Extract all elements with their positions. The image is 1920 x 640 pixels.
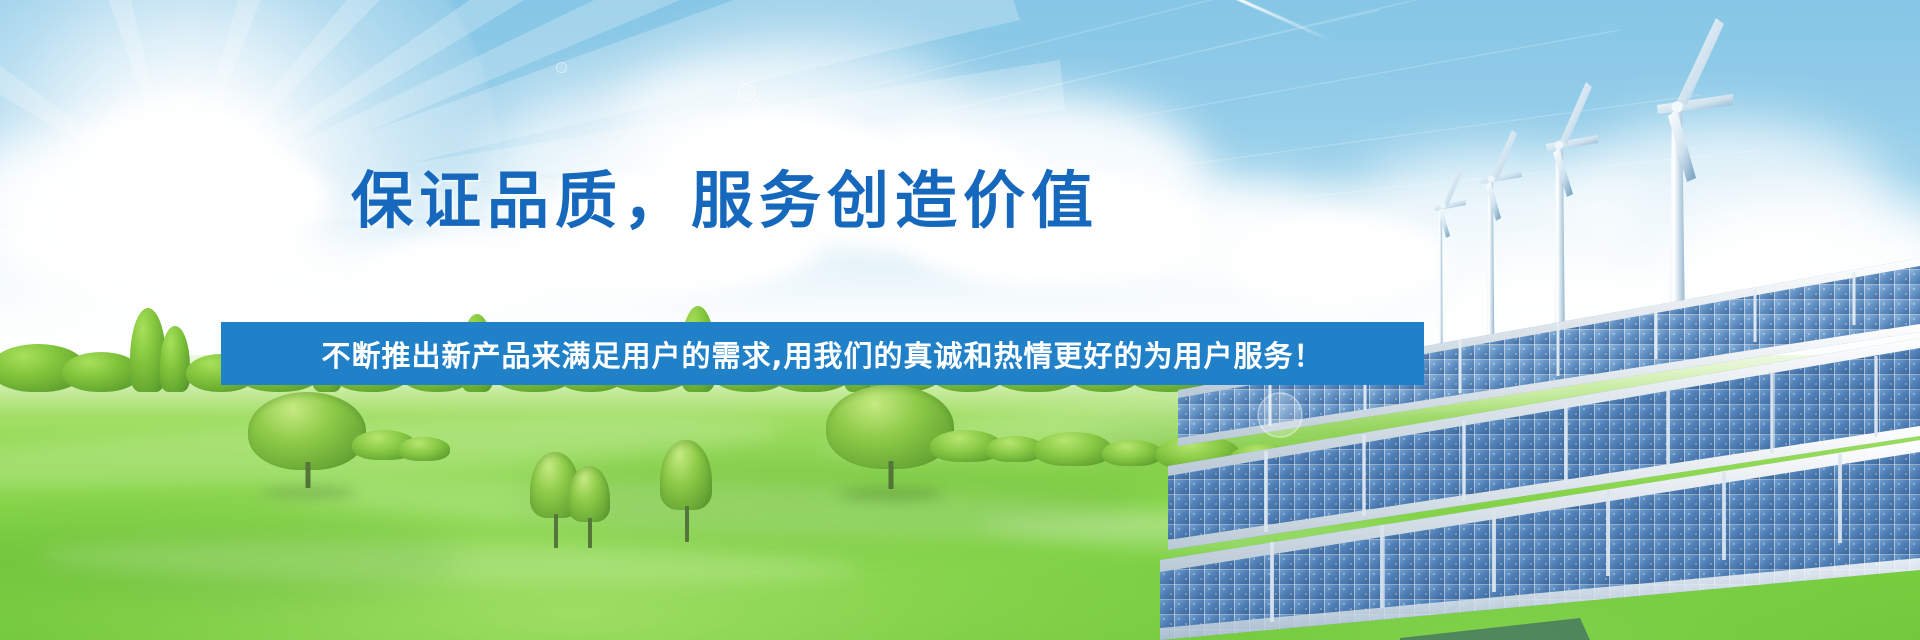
sapling-tree	[568, 466, 612, 556]
sapling-tree	[660, 440, 714, 548]
subtitle-text: 不断推出新产品来满足用户的需求,用我们的真诚和热情更好的为用户服务！	[321, 333, 1323, 375]
page-title: 保证品质，服务创造价值	[0, 168, 1920, 233]
solar-panel-array	[1160, 240, 1920, 640]
hero-banner: 保证品质，服务创造价值 不断推出新产品来满足用户的需求,用我们的真诚和热情更好的…	[0, 0, 1920, 640]
subtitle-banner: 不断推出新产品来满足用户的需求,用我们的真诚和热情更好的为用户服务！	[221, 322, 1424, 385]
specimen-tree	[248, 392, 368, 492]
